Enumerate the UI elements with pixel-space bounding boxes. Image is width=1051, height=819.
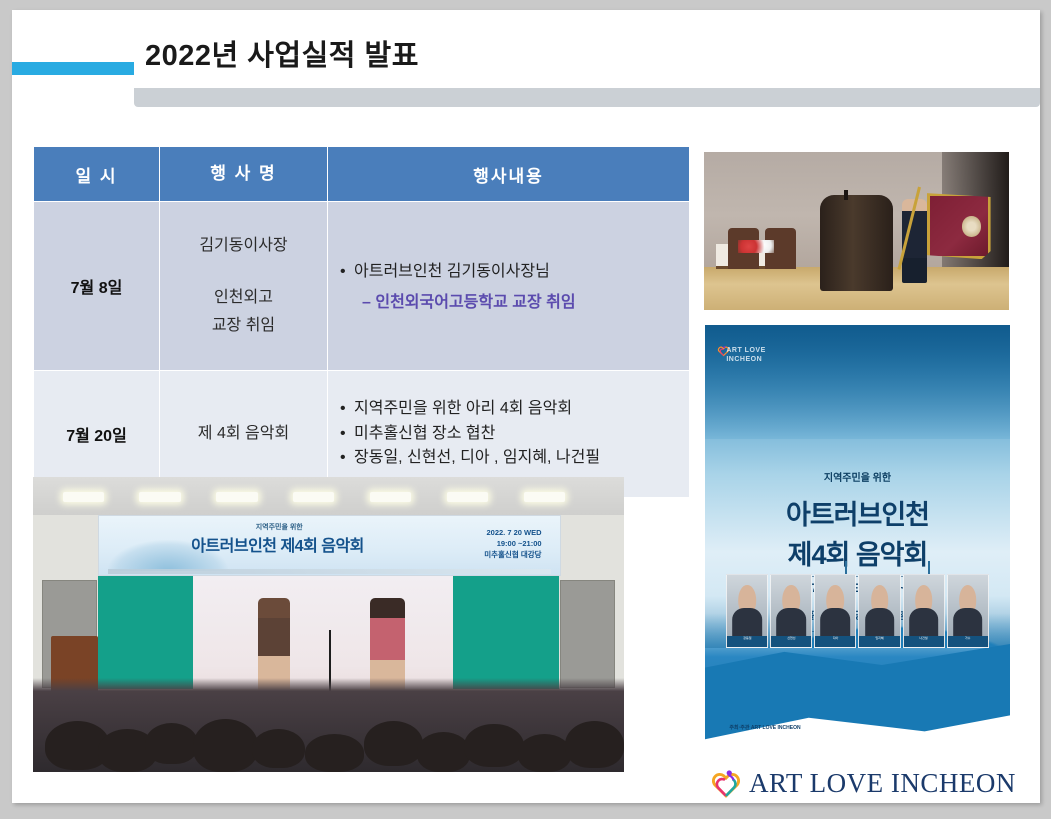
banner-sponsor-strip <box>108 569 551 574</box>
ceiling-light <box>216 492 257 502</box>
bullet-text: 아트러브인천 김기동이사장님 <box>354 263 550 280</box>
accent-bar <box>12 62 134 75</box>
table-row: 7월 8일 김기동이사장 인천외고 교장 취임 •아트러브인천 김기동이사장님 … <box>34 202 690 371</box>
bullet-item: •미추홀신협 장소 협찬 <box>340 422 689 447</box>
poster-footer-text: 주최·주관 ART LOVE INCHEON <box>729 724 800 731</box>
concert-photo: 지역주민을 위한 아트러브인천 제4회 음악회 2022. 7 20 WED 1… <box>33 477 624 772</box>
bullet-text: 지역주민을 위한 아리 4회 음악회 <box>354 400 572 417</box>
brand-logo: ART LOVE INCHEON <box>711 768 1016 799</box>
poster-logo-text: ART LOVE INCHEON <box>726 347 765 365</box>
poster-logo-line-2: INCHEON <box>726 356 762 363</box>
audience-head <box>565 721 624 768</box>
performer-photo: 장동일 <box>726 574 768 648</box>
banner-place: 미추홀신협 대강당 <box>484 550 541 559</box>
brand-name: ART LOVE INCHEON <box>749 768 1016 799</box>
poster-logo-line-1: ART LOVE <box>726 347 765 354</box>
audience-head <box>305 734 364 772</box>
poster-aerial-city <box>705 325 1010 439</box>
cell-event-name: 김기동이사장 인천외고 교장 취임 <box>160 202 328 371</box>
table-header-row: 일 시 행 사 명 행사내용 <box>34 147 690 202</box>
banner-schedule: 2022. 7 20 WED 19:00 ~21:00 미추홀신협 대강당 <box>484 527 541 561</box>
poster-title-line-1: 아트러브인천 <box>705 493 1010 532</box>
performer-photo: 가수 <box>947 574 989 648</box>
poster-subtitle: 지역주민을 위한 <box>705 469 1010 484</box>
cell-date: 7월 8일 <box>34 202 160 371</box>
bullet-dot-icon: • <box>340 446 354 471</box>
bullet-dot-icon: • <box>340 260 354 285</box>
ceiling-light <box>139 492 180 502</box>
stage-banner: 지역주민을 위한 아트러브인천 제4회 음악회 2022. 7 20 WED 1… <box>98 515 561 576</box>
performer-name: 신현선 <box>771 636 811 648</box>
hall-door <box>560 580 615 688</box>
ceiling-light <box>63 492 104 502</box>
title-underbar <box>134 88 1040 107</box>
ceiling-light <box>293 492 334 502</box>
audience-head <box>364 721 423 766</box>
flower-arrangement <box>738 240 775 253</box>
school-flag <box>927 193 991 259</box>
audience-head <box>252 729 305 769</box>
audience-head <box>417 732 470 772</box>
audience-head <box>145 723 198 765</box>
column-header-event-name: 행 사 명 <box>160 147 328 202</box>
column-header-date: 일 시 <box>34 147 160 202</box>
cell-event-detail: •아트러브인천 김기동이사장님 – 인천외국어고등학교 교장 취임 <box>328 202 690 371</box>
ceremony-photo <box>704 152 1009 310</box>
performer-name: 나건필 <box>904 636 944 648</box>
performer-name: 장동일 <box>727 636 767 648</box>
concert-poster: ART LOVE INCHEON 지역주민을 위한 아트러브인천 제4회 음악회… <box>705 325 1010 762</box>
art-love-heart-icon <box>711 769 741 799</box>
banner-title: 아트러브인천 제4회 음악회 <box>191 532 364 556</box>
performer-name: 임지혜 <box>859 636 899 648</box>
performer-name: 디아 <box>815 636 855 648</box>
event-name-line-2: 인천외고 <box>161 284 326 312</box>
banner-date: 2022. 7 20 WED <box>487 528 542 537</box>
event-name-line-3: 교장 취임 <box>161 312 326 340</box>
event-name-gap <box>161 260 326 284</box>
bullet-item: •장동일, 신현선, 디아 , 임지혜, 나건필 <box>340 446 689 471</box>
bullet-item: •아트러브인천 김기동이사장님 <box>340 260 689 285</box>
ceiling-light <box>524 492 565 502</box>
audience-head <box>464 724 523 767</box>
bullet-text: 미추홀신협 장소 협찬 <box>354 425 495 442</box>
performer-photo: 나건필 <box>903 574 945 648</box>
banner-time: 19:00 ~21:00 <box>497 539 542 548</box>
event-name-line-1: 김기동이사장 <box>199 237 287 254</box>
ceiling-light <box>447 492 488 502</box>
flag-emblem-icon <box>962 216 982 236</box>
performer-name: 가수 <box>948 636 988 648</box>
audience-head <box>518 734 571 772</box>
audience-head <box>193 719 258 772</box>
bullet-text: 장동일, 신현선, 디아 , 임지혜, 나건필 <box>354 449 600 466</box>
ceiling-light <box>370 492 411 502</box>
events-table: 일 시 행 사 명 행사내용 7월 8일 김기동이사장 인천외고 교장 취임 •… <box>33 146 690 498</box>
column-header-event-detail: 행사내용 <box>328 147 690 202</box>
bullet-dot-icon: • <box>340 422 354 447</box>
audience-crowd <box>33 678 624 772</box>
page-title: 2022년 사업실적 발표 <box>145 32 419 74</box>
performer-photo: 임지혜 <box>858 574 900 648</box>
sub-note: – 인천외국어고등학교 교장 취임 <box>362 288 689 312</box>
slide-canvas: 2022년 사업실적 발표 일 시 행 사 명 행사내용 7월 8일 김기동이사… <box>12 10 1040 803</box>
bullet-dot-icon: • <box>340 397 354 422</box>
podium-mic-icon <box>844 190 848 200</box>
podium <box>820 195 893 291</box>
performer-photo: 디아 <box>814 574 856 648</box>
bullet-item: •지역주민을 위한 아리 4회 음악회 <box>340 397 689 422</box>
performer-photo: 신현선 <box>770 574 812 648</box>
poster-performer-strip: 장동일 신현선 디아 임지혜 나건필 가수 <box>726 574 988 648</box>
